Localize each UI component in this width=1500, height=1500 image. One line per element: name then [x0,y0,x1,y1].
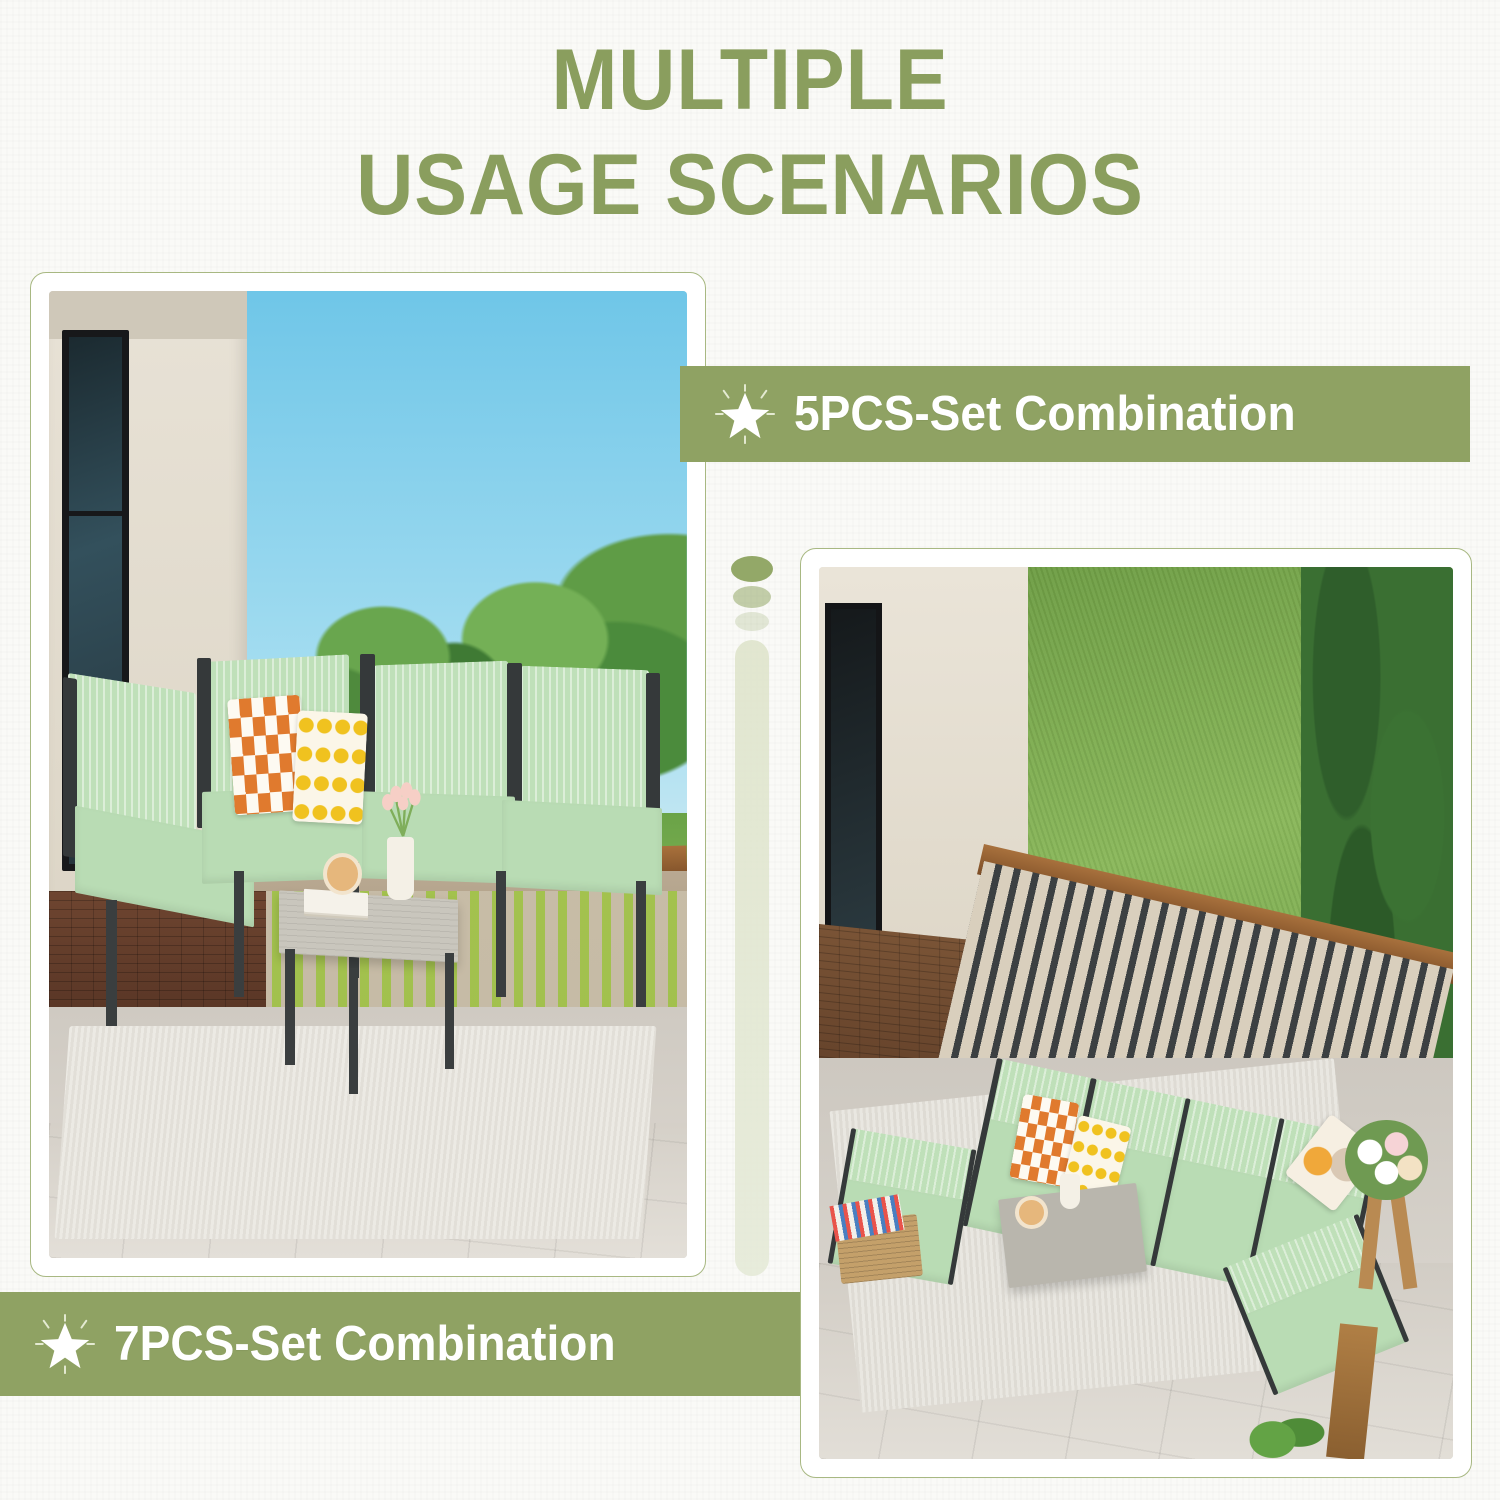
page-title: MULTIPLE USAGE SCENARIOS [60,28,1440,238]
sparkle-star-icon [34,1313,96,1375]
sofa-leg [496,871,506,997]
table-leg [349,968,359,1094]
banner-7pcs-label: 7PCS-Set Combination [114,1316,616,1372]
sofa-leg [636,881,646,1007]
photo-5pcs-patio-corner [49,291,687,1258]
connector-dot-1 [731,556,773,582]
table-leg [285,949,295,1065]
tulip-flowers [368,755,438,852]
banner-5pcs-label: 5PCS-Set Combination [794,386,1296,442]
banner-5pcs-set[interactable]: 5PCS-Set Combination [680,366,1470,462]
flower-bouquet [1345,1120,1427,1200]
sofa-leg [234,871,244,997]
sofa-leg [106,900,116,1026]
page-title-line-1: MULTIPLE [60,28,1440,133]
connector-dot-3 [735,612,769,631]
connector-dot-2 [733,586,771,608]
scenario-panel-5pcs [30,272,706,1277]
scenario-panel-7pcs [800,548,1472,1478]
banner-7pcs-set[interactable]: 7PCS-Set Combination [0,1292,800,1396]
plant [1237,1397,1326,1459]
table-leg [445,953,455,1069]
page-title-line-2: USAGE SCENARIOS [60,133,1440,238]
yellow-floral-pillow [292,710,368,825]
sparkle-star-icon [714,383,776,445]
tulip-vase [1060,1174,1080,1210]
connector-bar [735,640,769,1276]
photo-7pcs-balcony-aerial [819,567,1453,1459]
infographic-page: MULTIPLE USAGE SCENARIOS [0,0,1500,1500]
stacked-books [304,888,368,916]
window [825,603,882,960]
panel-connector [728,556,776,1276]
